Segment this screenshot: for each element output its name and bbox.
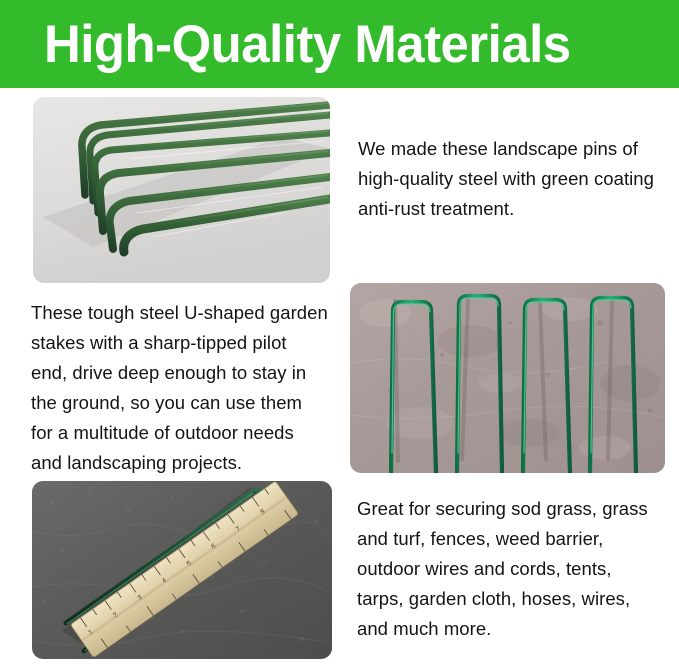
photo-stake-with-ruler: 123 456 78: [32, 481, 332, 659]
header-banner: High-Quality Materials: [0, 0, 679, 88]
materials-line-3: anti-rust treatment.: [358, 194, 658, 224]
uses-line-1: Great for securing sod grass, grass: [357, 494, 667, 524]
durability-line-4: the ground, so you can use them: [31, 388, 331, 418]
materials-paragraph: We made these landscape pins of high-qua…: [358, 134, 658, 224]
uses-paragraph: Great for securing sod grass, grass and …: [357, 494, 667, 644]
durability-line-3: end, drive deep enough to stay in: [31, 358, 331, 388]
materials-line-1: We made these landscape pins of: [358, 134, 658, 164]
product-infographic: High-Quality Materials: [0, 0, 679, 668]
durability-paragraph: These tough steel U-shaped garden stakes…: [31, 298, 331, 478]
photo-stacked-green-u-stakes: [33, 97, 330, 283]
durability-line-2: stakes with a sharp-tipped pilot: [31, 328, 331, 358]
four-pins-illustration: [350, 283, 665, 473]
uses-line-5: and much more.: [357, 614, 667, 644]
stacked-stakes-illustration: [33, 97, 330, 283]
uses-line-4: tarps, garden cloth, hoses, wires,: [357, 584, 667, 614]
stake-ruler-illustration: 123 456 78: [32, 481, 332, 659]
page-title: High-Quality Materials: [44, 18, 571, 71]
durability-line-5: for a multitude of outdoor needs: [31, 418, 331, 448]
materials-line-2: high-quality steel with green coating: [358, 164, 658, 194]
uses-line-2: and turf, fences, weed barrier,: [357, 524, 667, 554]
uses-line-3: outdoor wires and cords, tents,: [357, 554, 667, 584]
durability-line-6: and landscaping projects.: [31, 448, 331, 478]
photo-four-pins-on-concrete: [350, 283, 665, 473]
durability-line-1: These tough steel U-shaped garden: [31, 298, 331, 328]
